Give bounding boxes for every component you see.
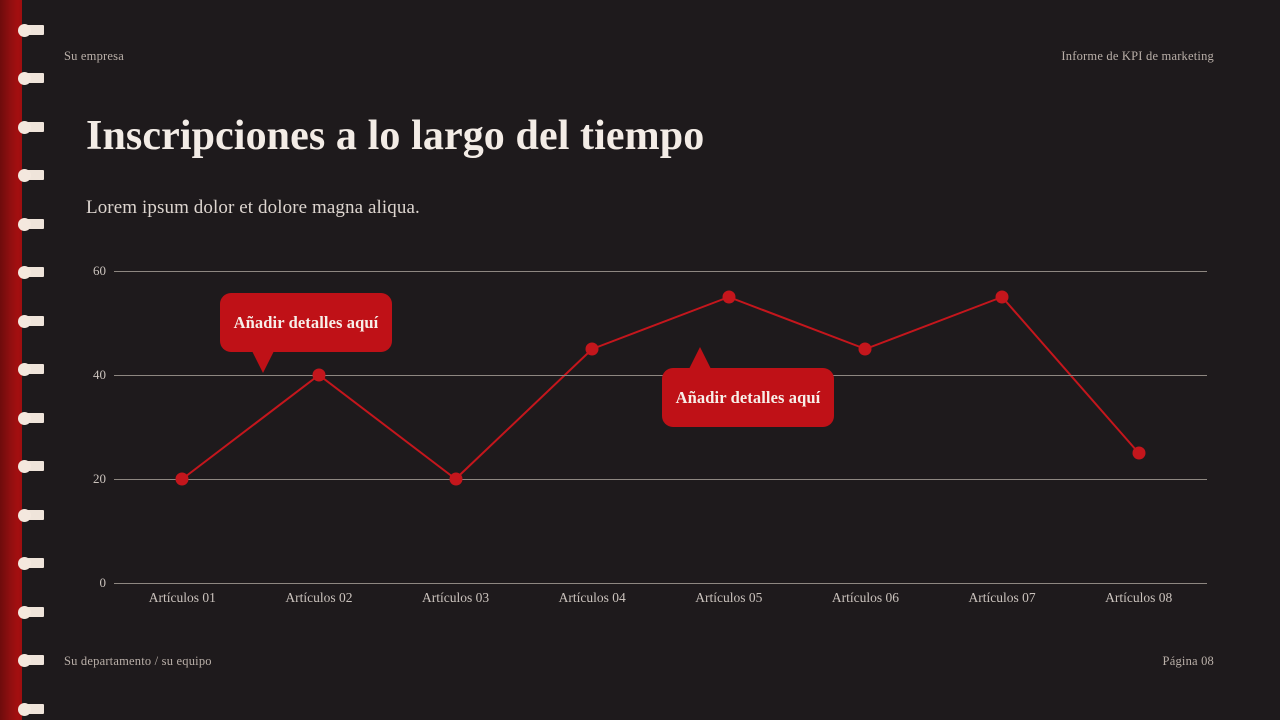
footer-department: Su departamento / su equipo	[64, 654, 212, 669]
data-point-marker[interactable]	[1132, 447, 1145, 460]
callout-tail-icon	[689, 347, 711, 369]
data-point-marker[interactable]	[996, 291, 1009, 304]
callout-tail-icon	[252, 351, 274, 373]
chart-gridline	[114, 583, 1207, 584]
x-axis-tick-label: Artículos 07	[969, 590, 1036, 606]
y-axis-tick-label: 40	[78, 367, 106, 383]
x-axis-tick-label: Artículos 03	[422, 590, 489, 606]
x-axis-tick-label: Artículos 05	[695, 590, 762, 606]
callout-label: Añadir detalles aquí	[234, 313, 379, 333]
chart-gridline	[114, 271, 1207, 272]
data-point-marker[interactable]	[312, 369, 325, 382]
callout-label: Añadir detalles aquí	[676, 388, 821, 408]
chart-line-path	[0, 0, 1280, 720]
chart-gridline	[114, 479, 1207, 480]
x-axis-tick-label: Artículos 01	[149, 590, 216, 606]
data-point-marker[interactable]	[449, 473, 462, 486]
callout-bubble-1[interactable]: Añadir detalles aquí	[220, 293, 392, 352]
y-axis-tick-label: 20	[78, 471, 106, 487]
chart-gridline	[114, 375, 1207, 376]
footer-page-number: Página 08	[1163, 654, 1214, 669]
line-chart: 0204060Artículos 01Artículos 02Artículos…	[0, 0, 1280, 720]
data-point-marker[interactable]	[176, 473, 189, 486]
y-axis-tick-label: 0	[78, 575, 106, 591]
x-axis-tick-label: Artículos 06	[832, 590, 899, 606]
callout-bubble-2[interactable]: Añadir detalles aquí	[662, 368, 834, 427]
x-axis-tick-label: Artículos 04	[559, 590, 626, 606]
x-axis-tick-label: Artículos 08	[1105, 590, 1172, 606]
data-point-marker[interactable]	[722, 291, 735, 304]
slide: Su empresa Informe de KPI de marketing I…	[0, 0, 1280, 720]
data-point-marker[interactable]	[859, 343, 872, 356]
data-point-marker[interactable]	[586, 343, 599, 356]
x-axis-tick-label: Artículos 02	[285, 590, 352, 606]
y-axis-tick-label: 60	[78, 263, 106, 279]
